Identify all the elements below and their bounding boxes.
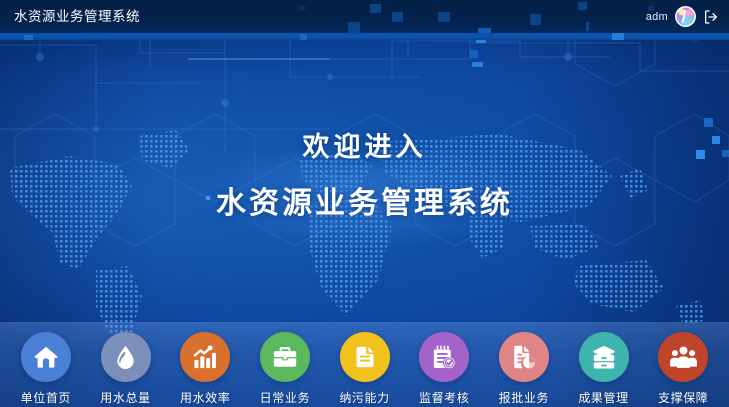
nav-item-label: 支撑保障 xyxy=(658,389,708,406)
app-title: 水资源业务管理系统 xyxy=(14,0,140,33)
app-header: 水资源业务管理系统 adm xyxy=(0,0,729,33)
nav-item-3[interactable]: 用水效率 xyxy=(165,323,245,406)
water-drop-icon[interactable] xyxy=(101,332,151,382)
users-group-icon[interactable] xyxy=(658,332,708,382)
report-pie-icon[interactable] xyxy=(499,332,549,382)
nav-item-label: 用水效率 xyxy=(180,389,230,406)
nav-item-2[interactable]: 用水总量 xyxy=(86,323,166,406)
nav-item-label: 单位首页 xyxy=(21,389,71,406)
welcome-banner: 欢迎进入 水资源业务管理系统 xyxy=(0,125,729,222)
nav-item-label: 日常业务 xyxy=(260,389,310,406)
nav-item-label: 成果管理 xyxy=(578,389,628,406)
banner-line-2: 水资源业务管理系统 xyxy=(0,178,729,222)
app-root: 水资源业务管理系统 adm 欢迎进入 水资源业务管理系统 单位首页用水总量用水效… xyxy=(0,0,729,407)
nav-item-7[interactable]: 报批业务 xyxy=(484,323,564,406)
nav-item-label: 监督考核 xyxy=(419,389,469,406)
nav-item-1[interactable]: 单位首页 xyxy=(6,323,86,406)
banner-line-1: 欢迎进入 xyxy=(0,125,729,164)
document-icon[interactable] xyxy=(340,332,390,382)
nav-item-6[interactable]: 监督考核 xyxy=(404,323,484,406)
home-icon[interactable] xyxy=(21,332,71,382)
logout-icon[interactable] xyxy=(703,9,719,25)
bottom-nav-bar: 单位首页用水总量用水效率日常业务纳污能力监督考核报批业务成果管理支撑保障 xyxy=(0,322,729,407)
nav-item-label: 报批业务 xyxy=(499,389,549,406)
nav-item-label: 用水总量 xyxy=(100,389,150,406)
nav-item-4[interactable]: 日常业务 xyxy=(245,323,325,406)
user-avatar[interactable] xyxy=(675,6,696,27)
bar-chart-icon[interactable] xyxy=(180,332,230,382)
briefcase-icon[interactable] xyxy=(260,332,310,382)
header-user-area: adm xyxy=(646,0,719,33)
nav-item-9[interactable]: 支撑保障 xyxy=(643,323,723,406)
database-icon[interactable] xyxy=(579,332,629,382)
user-name-label: adm xyxy=(646,11,668,23)
clipboard-check-icon[interactable] xyxy=(419,332,469,382)
nav-item-label: 纳污能力 xyxy=(339,389,389,406)
header-accent-strip xyxy=(0,33,729,40)
nav-item-5[interactable]: 纳污能力 xyxy=(325,323,405,406)
nav-item-8[interactable]: 成果管理 xyxy=(564,323,644,406)
